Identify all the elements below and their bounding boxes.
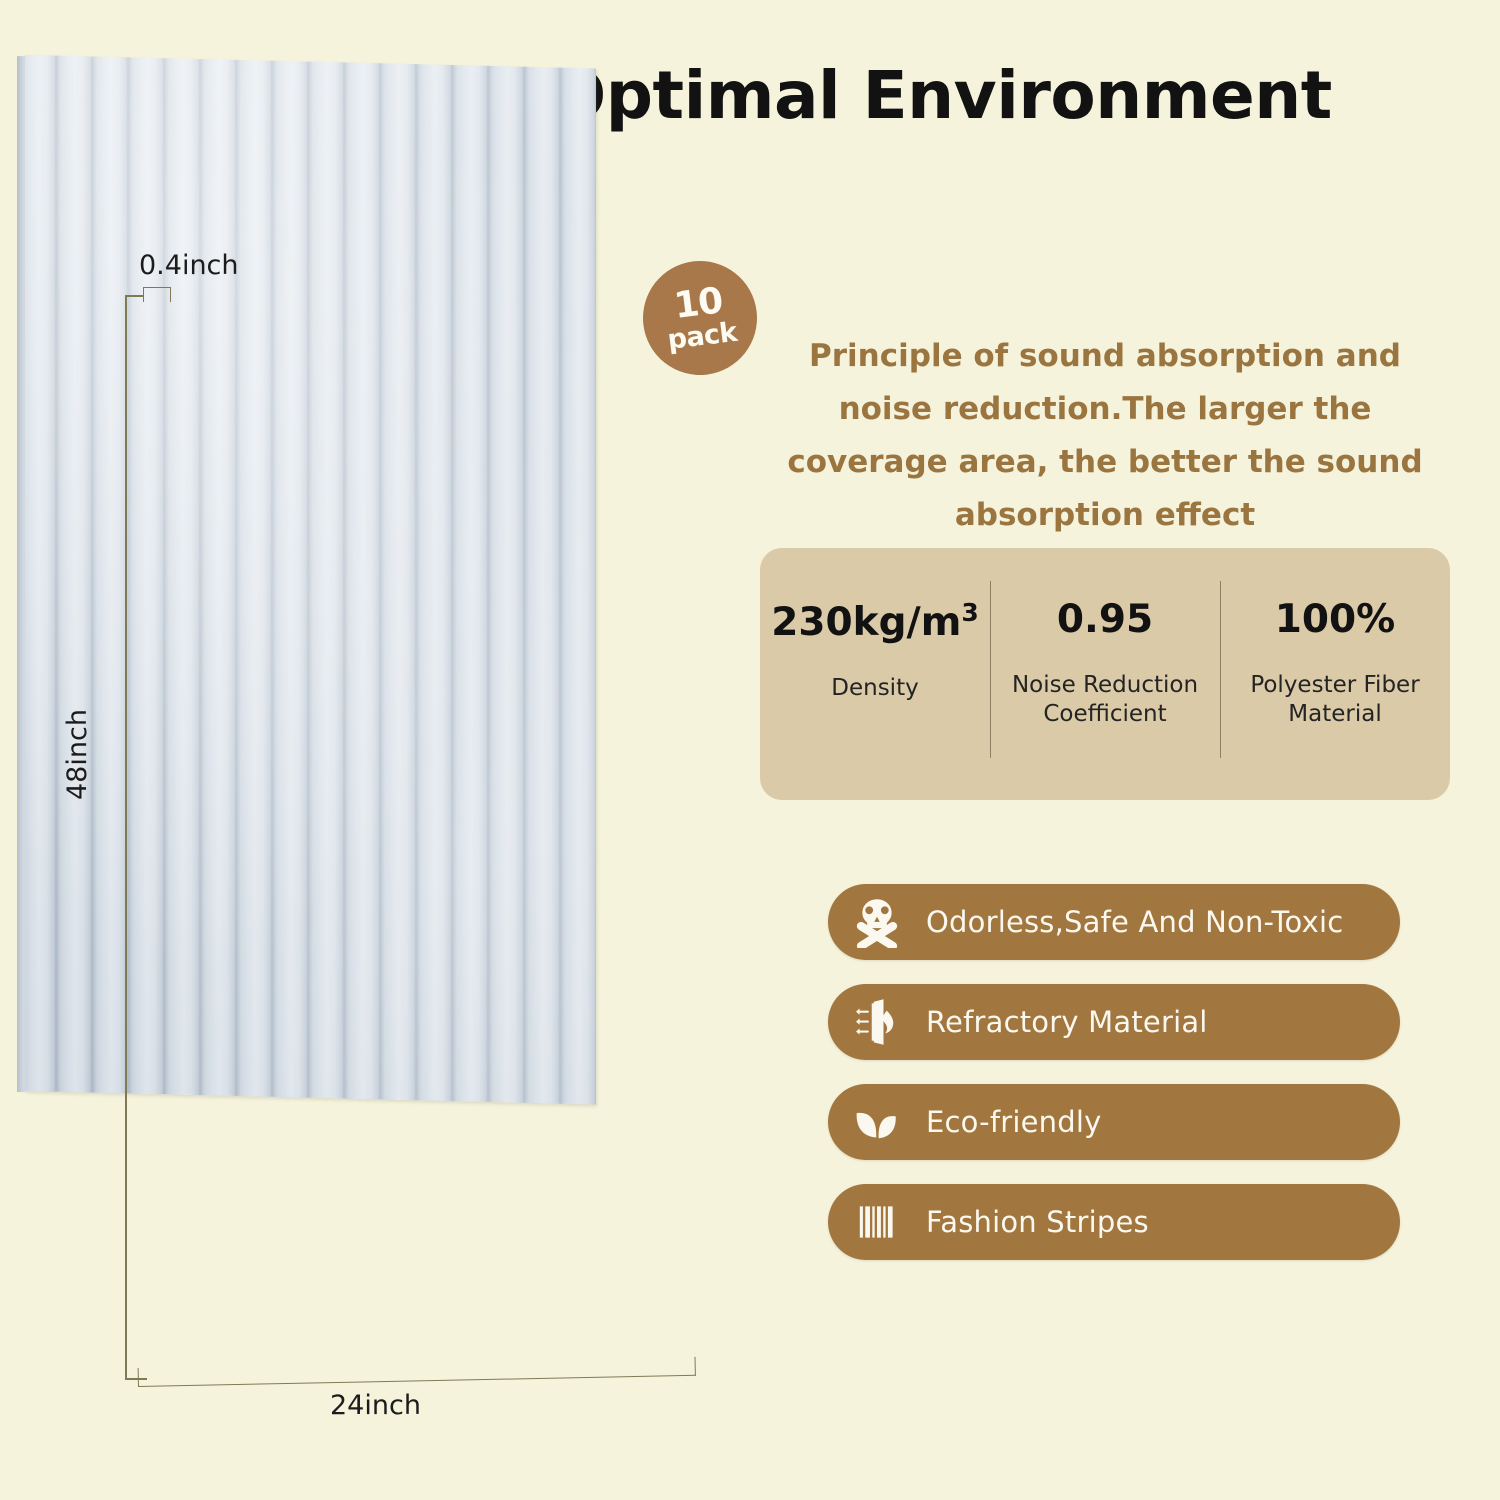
width-dimension-bracket <box>138 1357 696 1387</box>
thickness-dimension-label: 0.4inch <box>139 250 239 281</box>
feature-pill-non-toxic: Odorless,Safe And Non-Toxic <box>828 884 1400 960</box>
spec-label-density: Density <box>831 674 918 703</box>
pack-count-badge: 10 pack <box>636 254 763 381</box>
spec-column-nrc: 0.95 Noise Reduction Coefficient <box>990 548 1220 800</box>
spec-value-material: 100% <box>1275 600 1396 639</box>
fire-resistant-panel-icon <box>828 984 926 1060</box>
width-dimension-label: 24inch <box>330 1390 421 1421</box>
spec-label-nrc: Noise Reduction Coefficient <box>990 671 1220 729</box>
spec-column-material: 100% Polyester Fiber Material <box>1220 548 1450 800</box>
feature-list: Odorless,Safe And Non-Toxic <box>828 884 1400 1284</box>
leaves-icon <box>828 1084 926 1160</box>
spec-value-nrc: 0.95 <box>1057 600 1153 639</box>
stripes-icon <box>828 1184 926 1260</box>
spec-column-density: 230kg/m3 Density <box>760 548 990 800</box>
intro-paragraph: Principle of sound absorption and noise … <box>760 330 1450 542</box>
spec-value-density-text: 230kg/m <box>771 600 961 645</box>
spec-value-density-superscript: 3 <box>961 598 978 627</box>
infographic-root: Creating an Optimal Environment 48inch 0… <box>0 0 1500 1500</box>
acoustic-panel-image <box>25 55 596 1104</box>
thickness-dimension-bracket <box>143 287 171 302</box>
spec-value-density: 230kg/m3 <box>771 600 979 642</box>
pack-count-unit: pack <box>666 319 738 354</box>
feature-pill-refractory: Refractory Material <box>828 984 1400 1060</box>
feature-label-non-toxic: Odorless,Safe And Non-Toxic <box>926 905 1343 939</box>
height-dimension-label: 48inch <box>62 709 93 800</box>
feature-label-stripes: Fashion Stripes <box>926 1205 1149 1239</box>
feature-label-eco: Eco-friendly <box>926 1105 1101 1139</box>
spec-label-material: Polyester Fiber Material <box>1220 671 1450 729</box>
feature-pill-stripes: Fashion Stripes <box>828 1184 1400 1260</box>
feature-pill-eco: Eco-friendly <box>828 1084 1400 1160</box>
skull-crossbones-icon <box>828 884 926 960</box>
spec-card: 230kg/m3 Density 0.95 Noise Reduction Co… <box>760 548 1450 800</box>
feature-label-refractory: Refractory Material <box>926 1005 1208 1039</box>
height-dimension-line <box>125 295 127 1380</box>
height-dimension-tick-top <box>125 295 143 297</box>
